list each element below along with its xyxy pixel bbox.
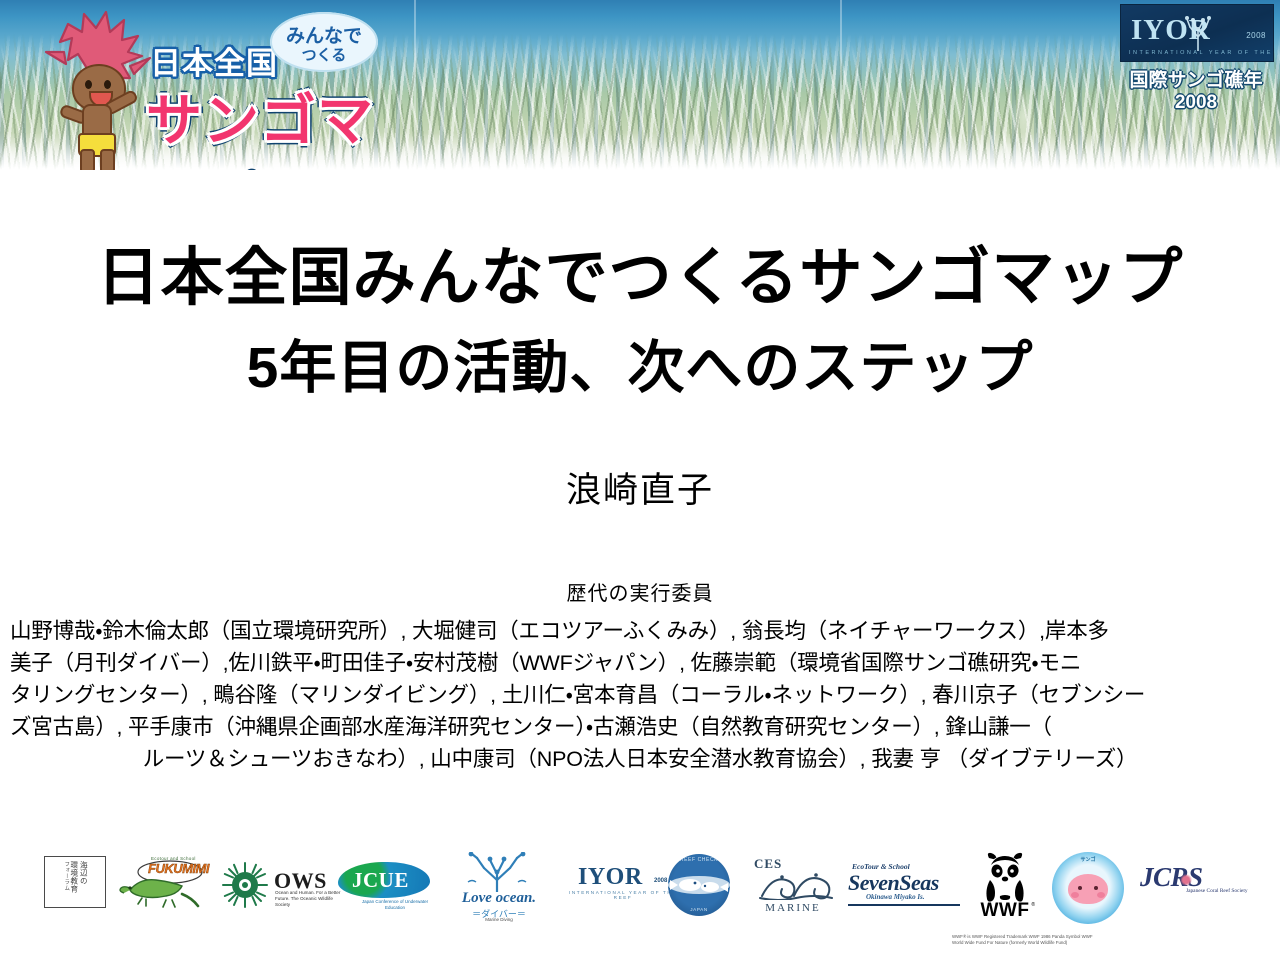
- character-top-text: サンゴ: [1052, 856, 1124, 863]
- title-line-1: 日本全国みんなでつくるサンゴマップ: [0, 242, 1280, 314]
- title-line-2: 5年目の活動、次へのステップ: [0, 336, 1280, 402]
- character-eye-right: [1094, 886, 1098, 890]
- wwf-wordmark: WWF: [970, 900, 1040, 922]
- bubble-line-2: つくる: [270, 44, 378, 65]
- seven-seas-rule: [848, 904, 960, 906]
- fukumimi-wordmark: FUKUMIMI: [148, 861, 209, 876]
- wwf-logo: WWF ®: [970, 852, 1040, 924]
- iyor-small-wordmark: IYOR: [578, 864, 643, 891]
- banner-seam-right: [840, 0, 842, 170]
- committee-line: ズ宮古島）, 平手康市（沖縄県企画部水産海洋研究センター）・古瀬浩史（自然教育研…: [10, 711, 1270, 743]
- jcrs-logo: JCRS Japanese Coral Reef Society: [1140, 862, 1252, 912]
- ces-marine-logo: CES MARINE: [750, 856, 836, 916]
- reef-check-logo: REEF CHECK JAPAN: [668, 854, 730, 916]
- character-face: [1068, 874, 1108, 904]
- iyor-caption: 国際サンゴ礁年2008: [1120, 65, 1272, 114]
- mascot-leg-left: [80, 149, 95, 170]
- logo-katakana-line: サンゴマップ: [146, 76, 428, 170]
- love-ocean-wordmark: Love ocean.: [447, 890, 551, 907]
- jcue-tagline: Japan Conference of Underwater Education: [358, 899, 432, 910]
- committee-line: 山野博哉・鈴木倫太郎（国立環境研究所）, 大堀健司（エコツアーふくみみ）, 翁長…: [10, 615, 1270, 647]
- umibe-col-1: 海辺の: [80, 861, 88, 903]
- committee-heading: 歴代の実行委員: [0, 577, 1280, 606]
- wwf-footnote: WWF® is WWF Registered Trademark WWF 198…: [952, 934, 1102, 945]
- love-ocean-tiny-text: Marine Diving: [447, 917, 551, 922]
- logo-speech-bubble: みんなで つくる: [270, 12, 378, 72]
- panda-icon: [978, 852, 1032, 902]
- mascot-eye-right: [104, 80, 111, 89]
- slide-title-block: 日本全国みんなでつくるサンゴマップ 5年目の活動、次へのステップ: [0, 242, 1280, 402]
- reef-check-bottom-text: JAPAN: [668, 907, 730, 912]
- jcrs-tagline: Japanese Coral Reef Society: [1186, 888, 1252, 895]
- committee-line: タリングセンター）, 鴫谷隆（マリンダイビング）, 土川仁・宮本育昌（コーラル・…: [10, 679, 1270, 711]
- iyor-year: 2008: [1246, 31, 1266, 40]
- ows-sunburst-icon: [222, 862, 268, 908]
- iyor-small-year: 2008: [654, 878, 667, 884]
- coral-branch-icon: [460, 852, 534, 892]
- iyor-coral-icon: [1183, 13, 1213, 51]
- character-cheek-right: [1097, 892, 1105, 898]
- seven-seas-location: Okinawa Miyako Is.: [866, 893, 925, 901]
- ows-tagline: Ocean and Human. For a Better Future. Th…: [275, 890, 345, 908]
- umibe-col-2: 環境教育: [70, 861, 78, 903]
- character-circle-logo: サンゴ: [1052, 852, 1124, 924]
- header-banner: 日本全国 みんなで つくる サンゴマップ IYOR: [0, 0, 1280, 170]
- umibe-col-3: フォーラム: [63, 861, 69, 903]
- reef-check-circle: REEF CHECK JAPAN: [668, 854, 730, 916]
- author-name: 浪崎直子: [0, 462, 1280, 513]
- iyor-tagline: INTERNATIONAL YEAR OF THE REEF: [1129, 50, 1274, 56]
- jcue-wordmark: JCUE: [352, 868, 409, 893]
- jcue-logo: JCUE Japan Conference of Underwater Educ…: [336, 858, 436, 912]
- love-ocean-logo: Love ocean. ＝ダイバー＝ Marine Diving: [444, 852, 554, 924]
- iyor-small-tagline: INTERNATIONAL YEAR OF THE REEF: [562, 890, 684, 900]
- mascot-eye-left: [85, 80, 92, 89]
- committee-list: 山野博哉・鈴木倫太郎（国立環境研究所）, 大堀健司（エコツアーふくみみ）, 翁長…: [0, 615, 1280, 775]
- jcrs-accent-dot: [1180, 874, 1192, 886]
- wwf-registered-mark: ®: [1031, 902, 1035, 908]
- seven-seas-logo: EcoTour & School SevenSeas Okinawa Miyak…: [846, 862, 962, 910]
- committee-line: 美子（月刊ダイバー）,佐川鉄平・町田佳子・安村茂樹（WWFジャパン）, 佐藤崇範…: [10, 647, 1270, 679]
- fukumimi-logo: Ecotour and School FUKUMIMI: [118, 856, 214, 912]
- mascot-leg-right: [100, 149, 115, 170]
- committee-line: ルーツ＆シューツおきなわ）, 山中康司（NPO法人日本安全潜水教育協会）, 我妻…: [10, 743, 1270, 775]
- umibe-forum-logo: 海辺の 環境教育 フォーラム: [44, 856, 106, 908]
- character-eye-left: [1078, 886, 1082, 890]
- sponsor-logo-strip: 海辺の 環境教育 フォーラム Ecotour and School FUKUMI…: [0, 848, 1280, 960]
- wave-icon: [758, 868, 834, 900]
- iyor-small-logo: IYOR 2008 INTERNATIONAL YEAR OF THE REEF: [562, 864, 684, 904]
- iyor-badge-box: IYOR 2008 INTERNATIONAL YEAR OF THE REEF: [1120, 4, 1274, 62]
- ows-logo: OWS Ocean and Human. For a Better Future…: [222, 856, 342, 912]
- character-circle-ring: サンゴ: [1052, 852, 1124, 924]
- coral-map-logo: 日本全国 みんなで つくる サンゴマップ: [18, 4, 428, 164]
- committee-block: 歴代の実行委員 山野博哉・鈴木倫太郎（国立環境研究所）, 大堀健司（エコツアーふ…: [0, 577, 1280, 775]
- coral-mascot-icon: [32, 8, 162, 163]
- character-cheek-left: [1071, 892, 1079, 898]
- iyor-badge: IYOR 2008 INTERNATIONAL YEAR OF THE REEF…: [1120, 4, 1272, 92]
- marine-wordmark: MARINE: [750, 902, 836, 914]
